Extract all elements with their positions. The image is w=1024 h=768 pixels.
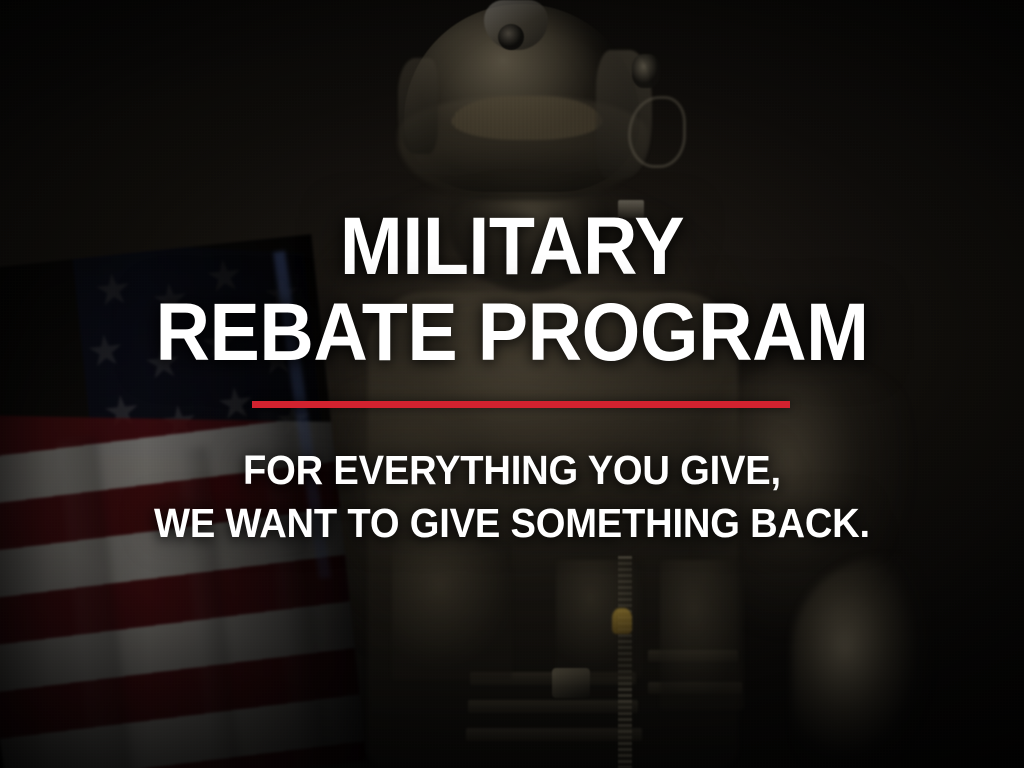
background-grain xyxy=(0,0,1024,768)
poster-canvas: MILITARY REBATE PROGRAM FOR EVERYTHING Y… xyxy=(0,0,1024,768)
